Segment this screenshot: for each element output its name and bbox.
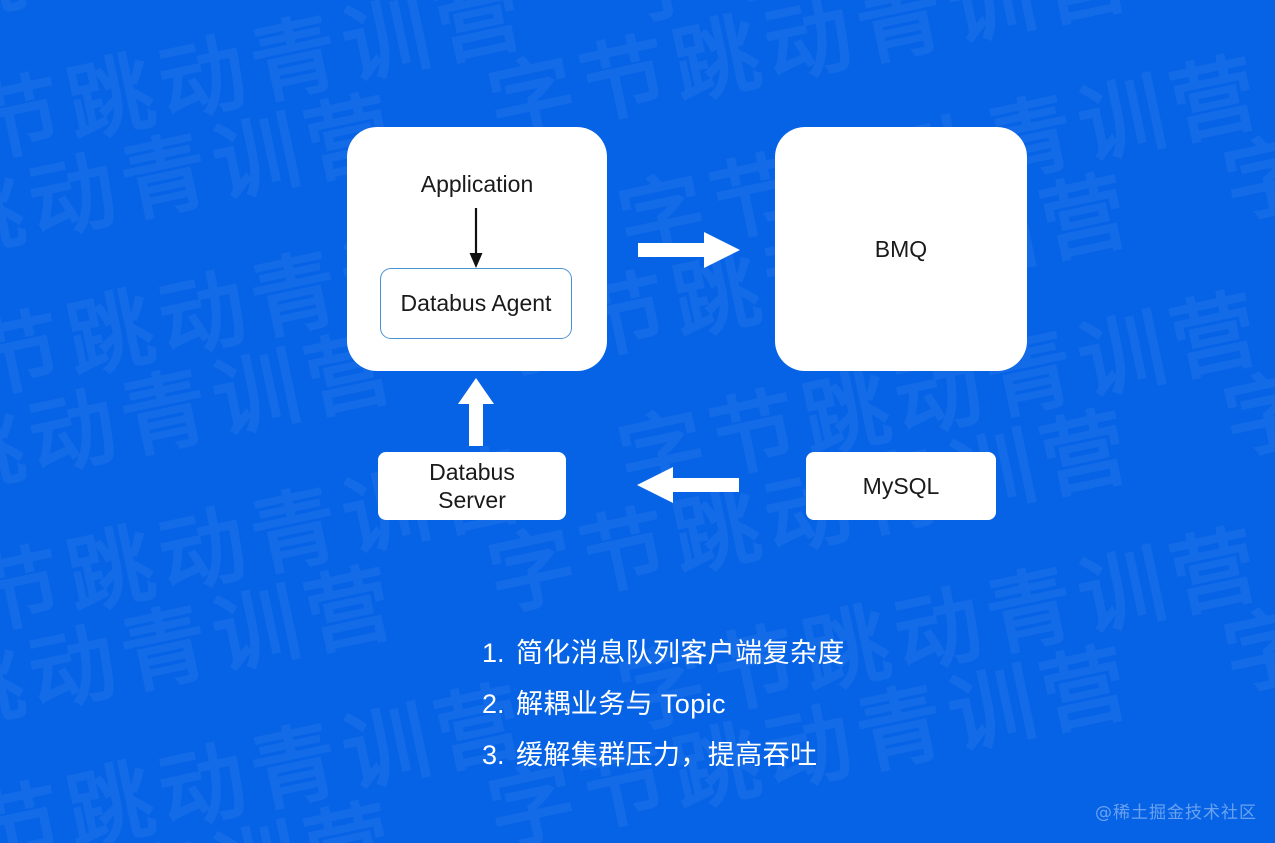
node-application-label: Application bbox=[421, 171, 534, 199]
list-item: 2. 解耦业务与 Topic bbox=[482, 679, 845, 730]
node-databus-agent[interactable]: Databus Agent bbox=[380, 268, 572, 339]
node-mysql-label: MySQL bbox=[863, 473, 940, 500]
list-item-number: 3. bbox=[482, 730, 516, 781]
list-item: 1. 简化消息队列客户端复杂度 bbox=[482, 628, 845, 679]
slide-canvas: 字节跳动青训营 字节跳动青训营 字节跳动青训营 字节跳动青训营 字节跳动青训营 … bbox=[0, 0, 1275, 843]
node-mysql[interactable]: MySQL bbox=[806, 452, 996, 520]
list-item-text: 简化消息队列客户端复杂度 bbox=[516, 628, 845, 679]
application-to-databus-agent-arrow-icon bbox=[468, 208, 484, 270]
mysql-to-databus-server-arrow-icon bbox=[637, 467, 739, 503]
databus-server-to-application-arrow-icon bbox=[458, 378, 494, 446]
node-bmq-label: BMQ bbox=[875, 236, 927, 263]
node-databus-server[interactable]: Databus Server bbox=[378, 452, 566, 520]
list-item-number: 2. bbox=[482, 679, 516, 730]
corner-watermark: @稀土掘金技术社区 bbox=[1095, 798, 1257, 823]
list-item: 3. 缓解集群压力，提高吞吐 bbox=[482, 730, 845, 781]
node-databus-server-label: Databus Server bbox=[429, 458, 515, 514]
node-databus-server-label-line1: Databus bbox=[429, 459, 515, 485]
node-databus-server-label-line2: Server bbox=[438, 487, 506, 513]
list-item-text: 缓解集群压力，提高吞吐 bbox=[516, 730, 817, 781]
list-item-text: 解耦业务与 Topic bbox=[516, 679, 726, 730]
list-item-number: 1. bbox=[482, 628, 516, 679]
benefits-list: 1. 简化消息队列客户端复杂度 2. 解耦业务与 Topic 3. 缓解集群压力… bbox=[482, 628, 845, 781]
node-bmq[interactable]: BMQ bbox=[775, 127, 1027, 371]
node-databus-agent-label: Databus Agent bbox=[401, 290, 552, 317]
databus-agent-to-bmq-arrow-icon bbox=[638, 232, 740, 268]
